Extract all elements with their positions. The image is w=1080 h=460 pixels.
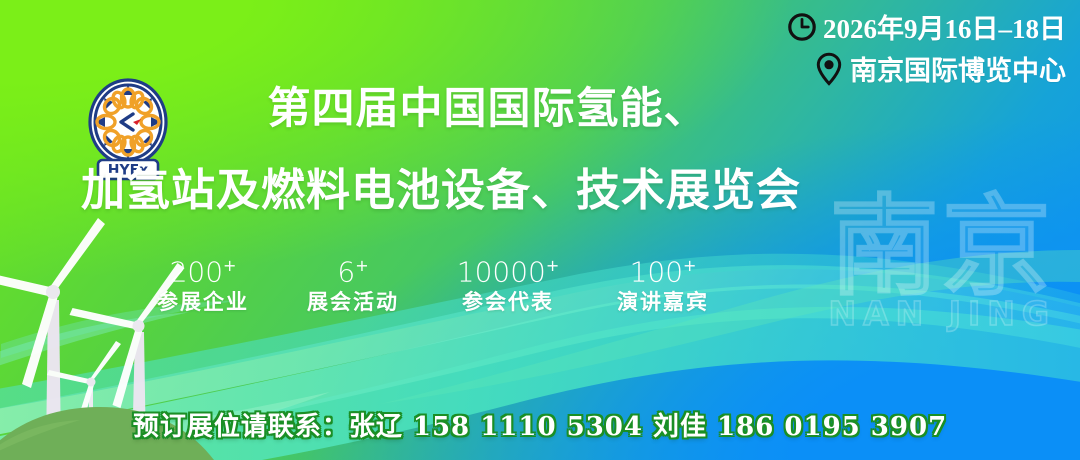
event-info-block: 2026年9月16日–18日 南京国际博览中心 xyxy=(787,12,1066,91)
stat-number: 100+ xyxy=(588,258,738,286)
stat-item-exhibitors: 200+ 参展企业 xyxy=(128,258,278,312)
stat-label: 参会代表 xyxy=(428,291,588,312)
stat-label: 展会活动 xyxy=(278,291,428,312)
stat-item-activities: 6+ 展会活动 xyxy=(278,258,428,312)
clock-icon xyxy=(787,12,817,47)
stat-number: 6+ xyxy=(278,258,428,286)
stat-label: 演讲嘉宾 xyxy=(588,291,738,312)
contact-line: 预订展位请联系：张辽 158 1110 5304 刘佳 186 0195 390… xyxy=(0,406,1080,443)
stat-item-attendees: 10000+ 参会代表 xyxy=(428,258,588,312)
stat-number: 200+ xyxy=(128,258,278,286)
stat-item-speakers: 100+ 演讲嘉宾 xyxy=(588,258,738,312)
event-venue-row: 南京国际博览中心 xyxy=(814,52,1066,91)
stat-label: 参展企业 xyxy=(128,291,278,312)
contact-text: 预订展位请联系：张辽 158 1110 5304 刘佳 186 0195 390… xyxy=(133,406,947,443)
stat-number: 10000+ xyxy=(428,258,588,286)
title-line-2: 加氢站及燃料电池设备、技术展览会 xyxy=(0,169,870,213)
event-title: 第四届中国国际氢能、 加氢站及燃料电池设备、技术展览会 xyxy=(0,88,870,213)
exhibition-banner: 2026年9月16日–18日 南京国际博览中心 xyxy=(0,0,1080,460)
title-line-1: 第四届中国国际氢能、 xyxy=(0,88,870,131)
event-date-text: 2026年9月16日–18日 xyxy=(823,15,1066,43)
event-venue-text: 南京国际博览中心 xyxy=(850,57,1066,85)
stats-row: 200+ 参展企业 6+ 展会活动 10000+ 参会代表 100+ 演讲嘉宾 xyxy=(128,258,738,312)
event-date-row: 2026年9月16日–18日 xyxy=(787,12,1066,47)
map-pin-icon xyxy=(814,52,844,91)
